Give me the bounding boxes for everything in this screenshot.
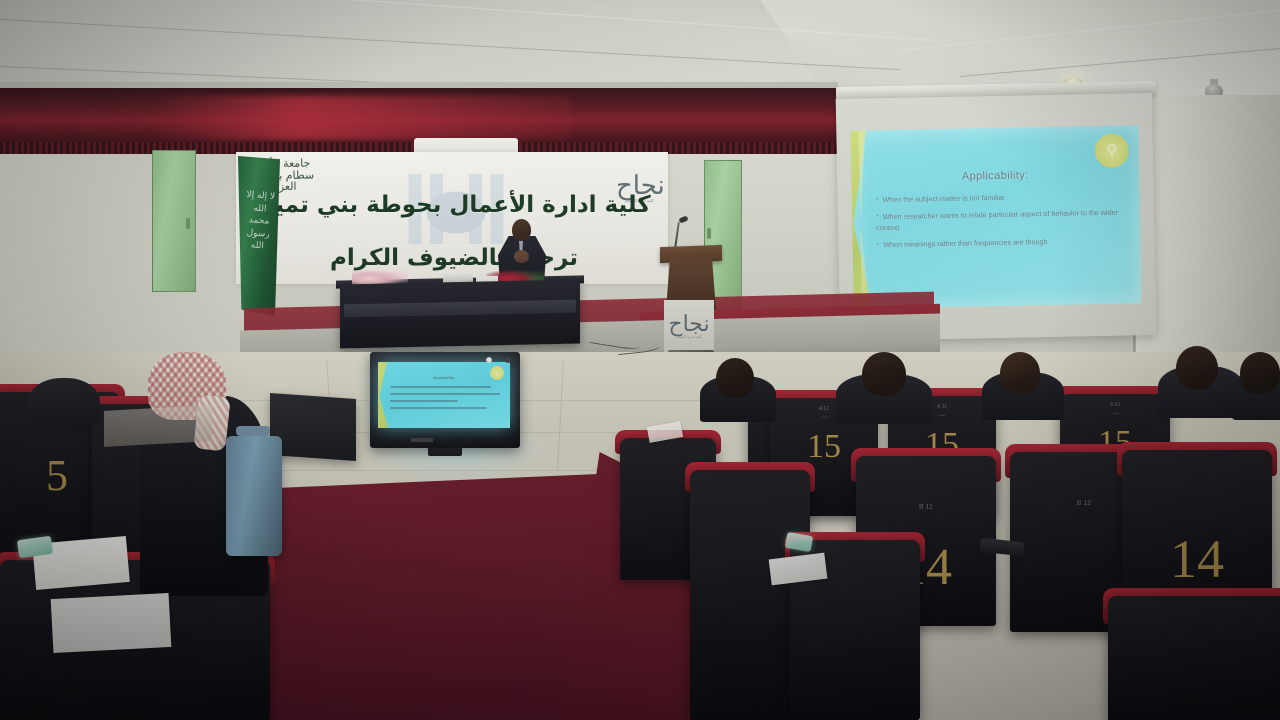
monitor-slide-lines	[390, 386, 500, 414]
door-handle-icon[interactable]	[707, 228, 711, 239]
attendee-head	[1000, 352, 1040, 394]
seated-speaker-head	[512, 219, 531, 241]
monitor-text-line	[390, 393, 500, 395]
bullet-marker: *	[876, 241, 879, 250]
bench-surface	[104, 405, 212, 447]
loudspeaker-cabinet	[270, 393, 356, 461]
curtain-highlight	[150, 96, 570, 140]
monitor-screen: Applicability:	[378, 362, 510, 428]
podium-logo-mark: نجاح	[668, 313, 709, 335]
monitor-text-line	[390, 400, 458, 402]
seat-foreground-right[interactable]	[1108, 596, 1280, 720]
slide-logo-badge: ⚲	[1094, 133, 1129, 168]
monitor-text-line	[390, 407, 487, 409]
attendee-head	[1176, 346, 1218, 390]
seat-tag-arabic: صف	[1060, 410, 1170, 415]
monitor-slide-title: Applicability:	[378, 375, 510, 380]
seat-number: 14	[1122, 528, 1272, 590]
speaker-hands	[514, 250, 529, 263]
slide-title: Applicability:	[851, 167, 1139, 185]
monitor-power-led	[486, 357, 492, 363]
monitor-brand-plate	[411, 438, 433, 442]
seat-back	[1108, 596, 1280, 720]
attendee-head	[716, 358, 754, 398]
attendee-head	[28, 378, 100, 430]
slide-bullet-item: * When researcher wants to relate partic…	[876, 207, 1126, 234]
attendee-head	[1240, 352, 1280, 394]
paper-notes[interactable]	[51, 593, 172, 653]
left-wall	[0, 148, 250, 380]
slide-bullet-item: * When the subject matter is not familia…	[876, 190, 1126, 206]
podium-logo-sign: نجاح كلية ادارة الأعمال	[664, 300, 714, 352]
attendee-head	[862, 352, 906, 396]
bullet-marker: *	[876, 212, 879, 221]
banner-subline: ترحب بالضيوف الكرام	[244, 245, 664, 271]
banner-headline: كلية ادارة الأعمال بحوطة بني تميم	[244, 192, 664, 218]
monitor-sensor-icon	[505, 357, 511, 363]
podium-logo-subtitle: كلية ادارة الأعمال	[676, 335, 701, 339]
bullet-text: When researcher wants to relate particul…	[876, 208, 1118, 233]
lecture-hall-photo: جامعة الأمير سطام بن عبد العزيز نجاح كلي…	[0, 0, 1280, 720]
rolling-suitcase[interactable]	[226, 436, 282, 556]
bullet-marker: *	[876, 195, 879, 204]
bullet-text: When meanings rather than frequencies ar…	[883, 237, 1047, 249]
door-handle-icon[interactable]	[186, 218, 190, 229]
flag-shahada-text: لا إله إلا الله محمد رسول الله	[242, 189, 276, 254]
suitcase-handle[interactable]	[236, 426, 270, 436]
slide-bullet-item: * When meanings rather than frequencies …	[876, 235, 1126, 251]
slide-badge-icon: ⚲	[1106, 141, 1118, 161]
seat-tag: A 10	[1060, 402, 1170, 408]
seat-tag: B 11	[856, 504, 996, 511]
bullet-text: When the subject matter is not familiar	[882, 193, 1004, 204]
monitor-text-line	[390, 386, 491, 388]
presentation-slide: ⚲ Applicability: * When the subject matt…	[850, 125, 1141, 308]
slide-bullet-list: * When the subject matter is not familia…	[876, 190, 1127, 257]
